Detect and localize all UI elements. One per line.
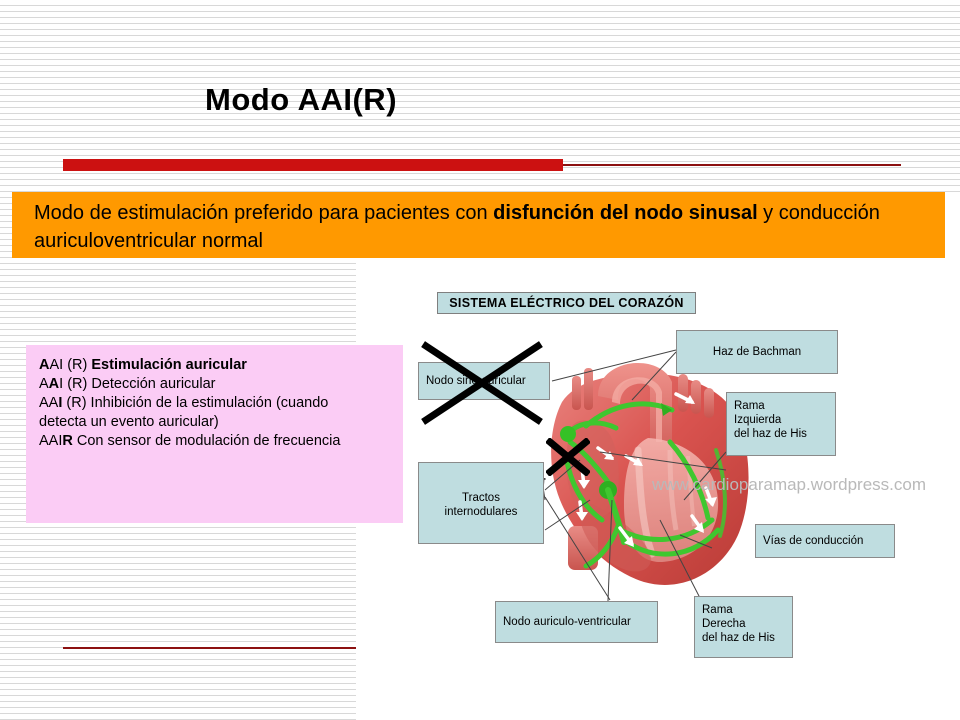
legend-line-2-bold: A xyxy=(49,376,59,392)
legend-line-5-rest: Con sensor de modulación de frecuencia xyxy=(73,433,341,449)
legend-line-2: AAI (R) Detección auricular xyxy=(39,375,393,394)
label-text: Haz de Bachman xyxy=(713,345,801,359)
orange-summary-banner: Modo de estimulación preferido para paci… xyxy=(12,192,945,258)
diagram-label-haz-de-bachman[interactable]: Haz de Bachman xyxy=(676,330,838,374)
label-line-1: Tractos xyxy=(426,491,536,505)
legend-line-1: AAI (R) Estimulación auricular xyxy=(39,356,393,375)
legend-line-1-bold: A xyxy=(39,357,49,373)
diagram-heading: SISTEMA ELÉCTRICO DEL CORAZÓN xyxy=(437,292,696,314)
banner-bold-phrase: disfunción del nodo sinusal xyxy=(493,202,757,224)
label-text: Nodo auriculo-ventricular xyxy=(503,615,631,629)
diagram-label-rama-izquierda[interactable]: Rama Izquierda del haz de His xyxy=(726,392,836,456)
legend-line-5-pre: AAI xyxy=(39,433,62,449)
label-line-3: del haz de His xyxy=(734,427,828,441)
legend-line-5-bold: R xyxy=(62,433,72,449)
aai-mode-legend-box: AAI (R) Estimulación auricular AAI (R) D… xyxy=(26,345,403,523)
label-text: Vías de conducción xyxy=(763,534,863,548)
cross-out-x-icon-heart xyxy=(546,438,590,476)
banner-text-1: Modo de estimulación preferido para paci… xyxy=(34,202,493,224)
legend-line-2-pre: A xyxy=(39,376,49,392)
label-line-3: del haz de His xyxy=(702,631,785,645)
legend-line-4: detecta un evento auricular) xyxy=(39,413,393,432)
diagram-label-tractos-internodulares[interactable]: Tractos internodulares xyxy=(418,462,544,544)
label-line-1: Rama xyxy=(734,399,828,413)
legend-line-3: AAI (R) Inhibición de la estimulación (c… xyxy=(39,394,393,413)
legend-line-1-mid: AI (R) xyxy=(49,357,91,373)
cross-out-x-icon-sa-node xyxy=(420,340,544,426)
diagram-label-nodo-auriculo-ventricular[interactable]: Nodo auriculo-ventricular xyxy=(495,601,658,643)
legend-line-5: AAIR Con sensor de modulación de frecuen… xyxy=(39,432,393,451)
legend-line-3-pre: AA xyxy=(39,395,58,411)
diagram-label-vias-de-conduccion[interactable]: Vías de conducción xyxy=(755,524,895,558)
label-line-1: Rama xyxy=(702,603,785,617)
diagram-label-rama-derecha[interactable]: Rama Derecha del haz de His xyxy=(694,596,793,658)
legend-line-2-rest: I (R) Detección auricular xyxy=(59,376,215,392)
slide-canvas: Modo AAI(R) Modo de estimulación preferi… xyxy=(0,0,960,720)
legend-line-3-rest: (R) Inhibición de la estimulación (cuand… xyxy=(62,395,328,411)
label-line-2: internodulares xyxy=(426,505,536,519)
legend-line-1-rest: Estimulación auricular xyxy=(91,357,247,373)
label-line-2: Izquierda xyxy=(734,413,828,427)
label-line-2: Derecha xyxy=(702,617,785,631)
